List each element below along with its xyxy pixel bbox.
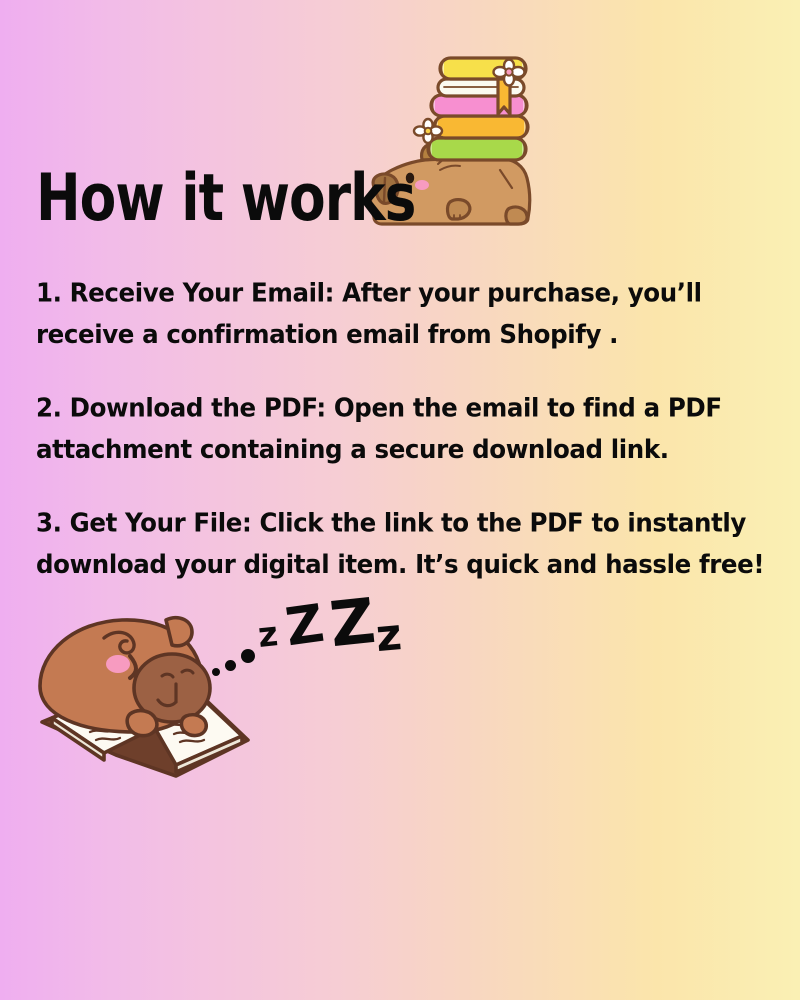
sleep-zzz-group: z Z Z z bbox=[208, 592, 418, 687]
sleeping-capybara-paw bbox=[127, 711, 157, 736]
zzz-letter-2: Z bbox=[283, 598, 328, 655]
step-item-1: 1. Receive Your Email: After your purcha… bbox=[36, 272, 766, 355]
capybara-blush bbox=[415, 180, 429, 190]
capybara-front-leg bbox=[448, 200, 470, 219]
steps-list: 1. Receive Your Email: After your purcha… bbox=[36, 272, 766, 580]
zzz-letter-3: Z bbox=[327, 590, 378, 656]
step-item-3: 3. Get Your File: Click the link to the … bbox=[36, 502, 766, 585]
zzz-letter-1: z bbox=[256, 617, 279, 653]
capybara-back-foot bbox=[506, 207, 527, 224]
zzz-letter-4: z bbox=[374, 613, 403, 659]
sleeping-capybara-blush bbox=[106, 655, 130, 673]
page-title: How it works bbox=[36, 160, 415, 236]
book-orange bbox=[434, 116, 528, 138]
sleeping-capybara-foot bbox=[181, 715, 206, 736]
zzz-dot-2 bbox=[225, 660, 236, 671]
sleeping-capybara-ear bbox=[166, 618, 192, 646]
book-pink bbox=[431, 95, 527, 116]
step-item-2: 2. Download the PDF: Open the email to f… bbox=[36, 387, 766, 470]
zzz-dot-3 bbox=[241, 649, 255, 663]
poster-canvas: How it works 1. Receive Your Email: Afte… bbox=[0, 0, 800, 1000]
book-green bbox=[428, 138, 526, 160]
zzz-dot-1 bbox=[212, 668, 220, 676]
